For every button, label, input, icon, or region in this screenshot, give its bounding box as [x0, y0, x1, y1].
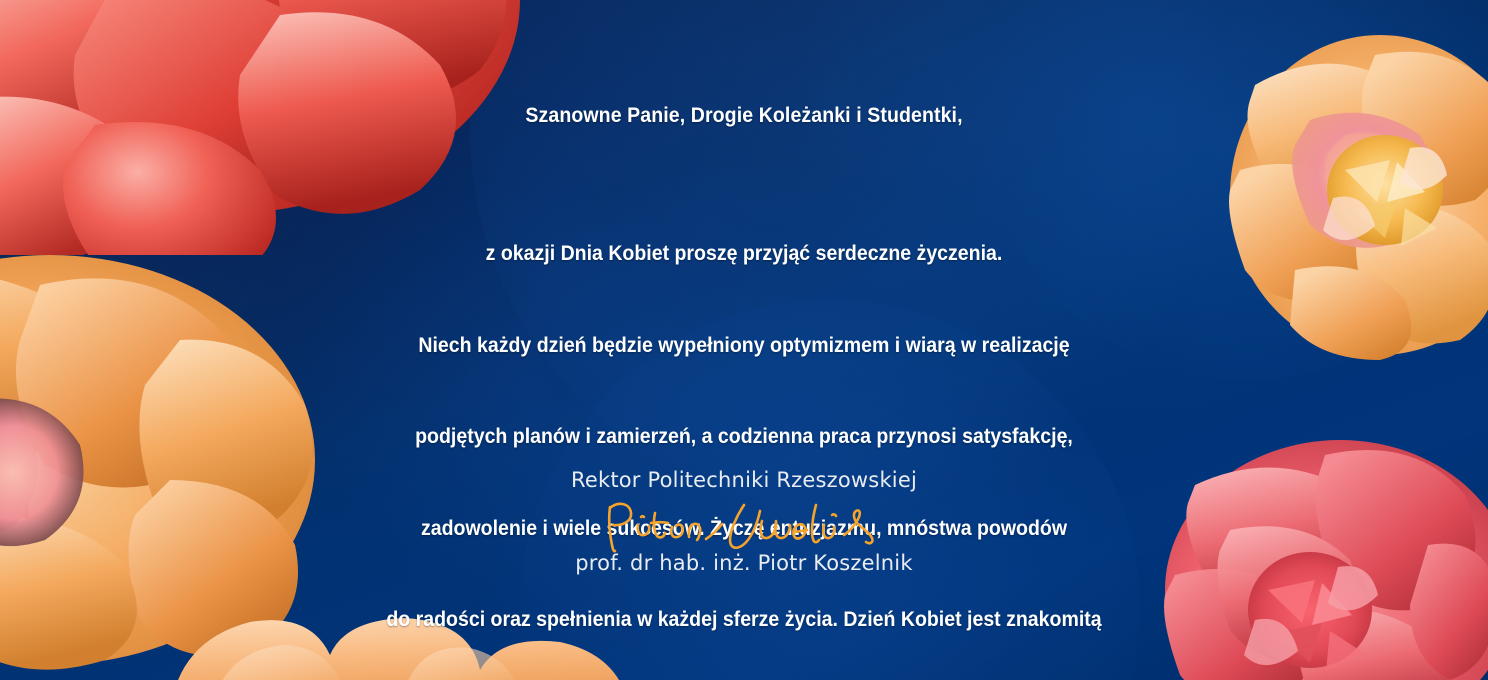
greeting-line-2: Niech każdy dzień będzie wypełniony opty… [52, 331, 1436, 362]
greeting-line-1: z okazji Dnia Kobiet proszę przyjąć serd… [52, 239, 1436, 270]
greeting-card: Szanowne Panie, Drogie Koleżanki i Stude… [0, 0, 1488, 680]
greeting-headline: Szanowne Panie, Drogie Koleżanki i Stude… [52, 104, 1436, 128]
greeting-line-3: podjętych planów i zamierzeń, a codzienn… [52, 422, 1436, 453]
signature-icon [594, 495, 894, 557]
card-content: Szanowne Panie, Drogie Koleżanki i Stude… [0, 0, 1488, 680]
greeting-line-5: do radości oraz spełnienia w każdej sfer… [52, 605, 1436, 636]
rector-name: prof. dr hab. inż. Piotr Koszelnik [0, 551, 1488, 575]
greeting-body: z okazji Dnia Kobiet proszę przyjąć serd… [52, 178, 1436, 680]
signature [0, 495, 1488, 557]
rector-title: Rektor Politechniki Rzeszowskiej [0, 468, 1488, 492]
